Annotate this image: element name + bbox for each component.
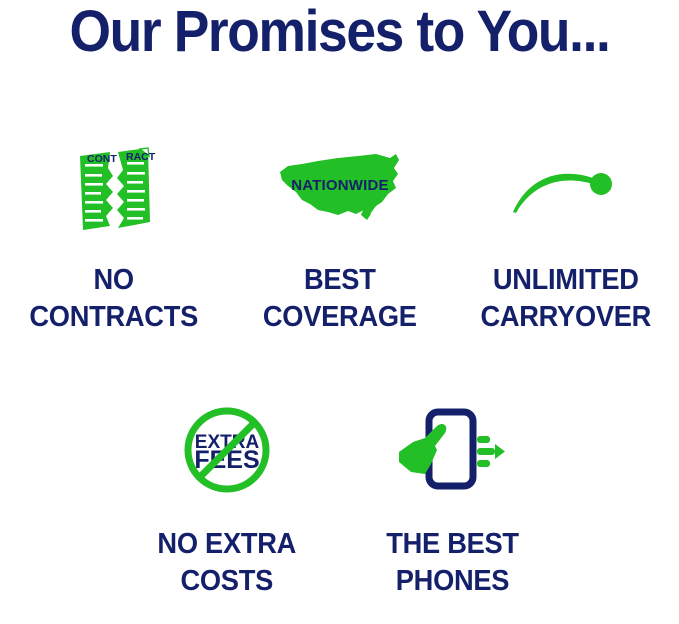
torn-contract-icon: CONT RACT bbox=[66, 142, 162, 238]
map-icon-text: NATIONWIDE bbox=[291, 177, 389, 194]
promise-item-unlimited-carryover: UNLIMITED CARRYOVER bbox=[453, 140, 679, 336]
promises-row-top: CONT RACT NO CONTRACTS NATIONWIDE BEST C… bbox=[0, 140, 679, 336]
promise-label-no-contracts: NO CONTRACTS bbox=[29, 262, 198, 336]
no-extra-fees-icon-box: EXTRA FEES bbox=[181, 400, 273, 500]
carryover-arc-icon bbox=[501, 150, 631, 230]
usa-map-icon-box: NATIONWIDE bbox=[272, 140, 408, 240]
no-extra-fees-icon: EXTRA FEES bbox=[181, 404, 273, 496]
hand-holding-phone-icon bbox=[395, 404, 511, 496]
promises-grid: CONT RACT NO CONTRACTS NATIONWIDE BEST C… bbox=[0, 140, 679, 600]
promise-label-no-extra-costs: NO EXTRA COSTS bbox=[157, 526, 296, 600]
carryover-arc-icon-box bbox=[501, 140, 631, 240]
page-title: Our Promises to You... bbox=[27, 2, 652, 63]
contract-icon-text-left: CONT bbox=[87, 153, 117, 165]
promise-label-best-coverage: BEST COVERAGE bbox=[263, 262, 417, 336]
promise-item-best-coverage: NATIONWIDE BEST COVERAGE bbox=[227, 140, 453, 336]
promise-label-the-best-phones: THE BEST PHONES bbox=[386, 526, 519, 600]
hand-holding-phone-icon-box bbox=[395, 400, 511, 500]
promises-row-bottom: EXTRA FEES NO EXTRA COSTS bbox=[0, 400, 679, 600]
torn-contract-icon-box: CONT RACT bbox=[66, 140, 162, 240]
promise-item-no-extra-costs: EXTRA FEES NO EXTRA COSTS bbox=[114, 400, 340, 600]
promise-item-no-contracts: CONT RACT NO CONTRACTS bbox=[1, 140, 227, 336]
contract-icon-text-right: RACT bbox=[126, 151, 156, 163]
usa-map-icon: NATIONWIDE bbox=[272, 148, 408, 232]
promise-item-the-best-phones: THE BEST PHONES bbox=[340, 400, 566, 600]
promise-label-unlimited-carryover: UNLIMITED CARRYOVER bbox=[480, 262, 651, 336]
